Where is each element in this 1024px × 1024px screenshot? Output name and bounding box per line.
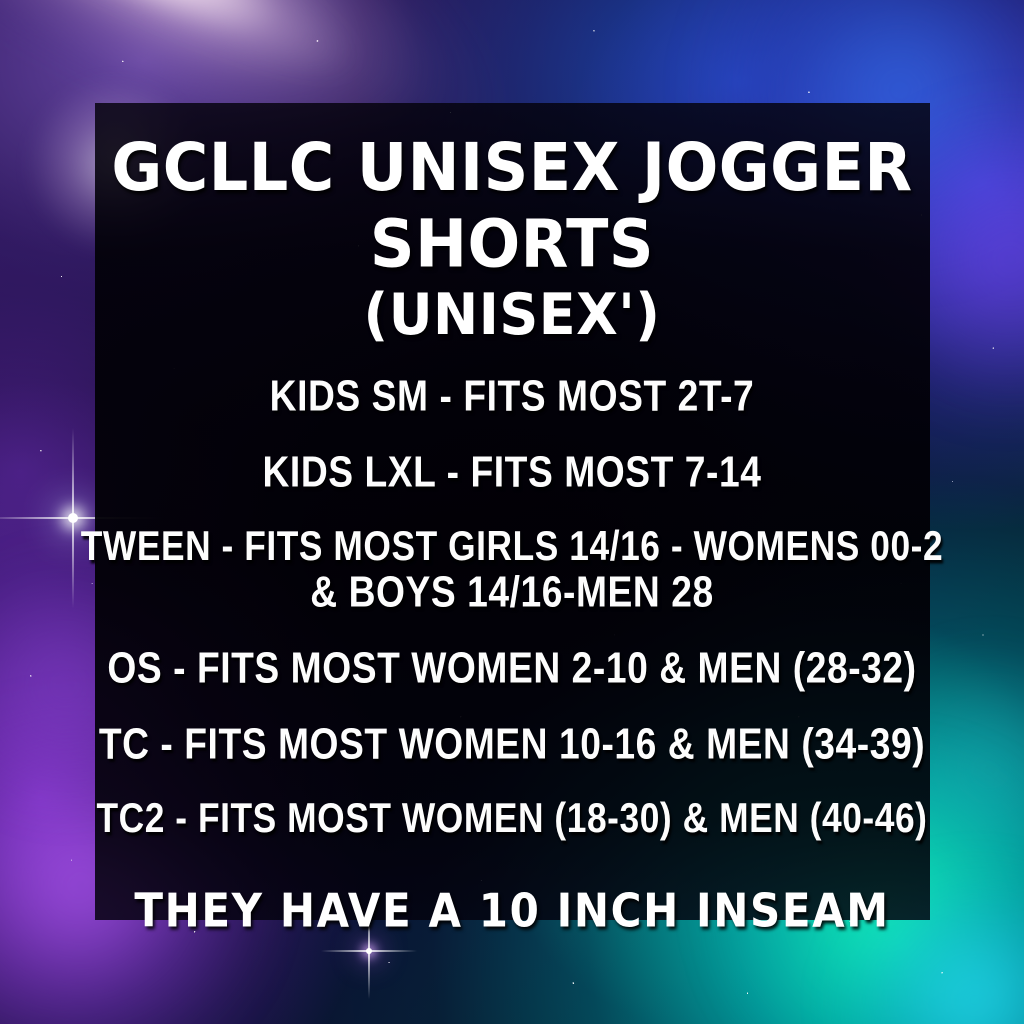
size-line-tween: TWEEN - FITS MOST GIRLS 14/16 - WOMENS 0… bbox=[36, 527, 988, 569]
size-line-tc: TC - FITS MOST WOMEN 10-16 & MEN (34-39) bbox=[36, 722, 988, 766]
poster-text-content: GCLLC UNISEX JOGGER SHORTS (UNISEX') KID… bbox=[0, 0, 1024, 1024]
size-line-kids-sm: KIDS SM - FITS MOST 2T-7 bbox=[36, 374, 988, 418]
size-line-os: OS - FITS MOST WOMEN 2-10 & MEN (28-32) bbox=[36, 646, 988, 690]
galaxy-size-chart-poster: GCLLC UNISEX JOGGER SHORTS (UNISEX') KID… bbox=[0, 0, 1024, 1024]
inseam-note: THEY HAVE A 10 INCH INSEAM bbox=[134, 884, 889, 938]
page-title: GCLLC UNISEX JOGGER SHORTS bbox=[0, 130, 1024, 282]
size-line-tc2: TC2 - FITS MOST WOMEN (18-30) & MEN (40-… bbox=[36, 799, 988, 841]
page-subtitle: (UNISEX') bbox=[0, 282, 1024, 348]
title-block: GCLLC UNISEX JOGGER SHORTS (UNISEX') bbox=[0, 134, 1024, 346]
size-list: KIDS SM - FITS MOST 2T-7 KIDS LXL - FITS… bbox=[0, 376, 1024, 874]
size-line-tween-continued: & BOYS 14/16-MEN 28 bbox=[36, 570, 988, 614]
size-line-kids-lxl: KIDS LXL - FITS MOST 7-14 bbox=[36, 450, 988, 494]
